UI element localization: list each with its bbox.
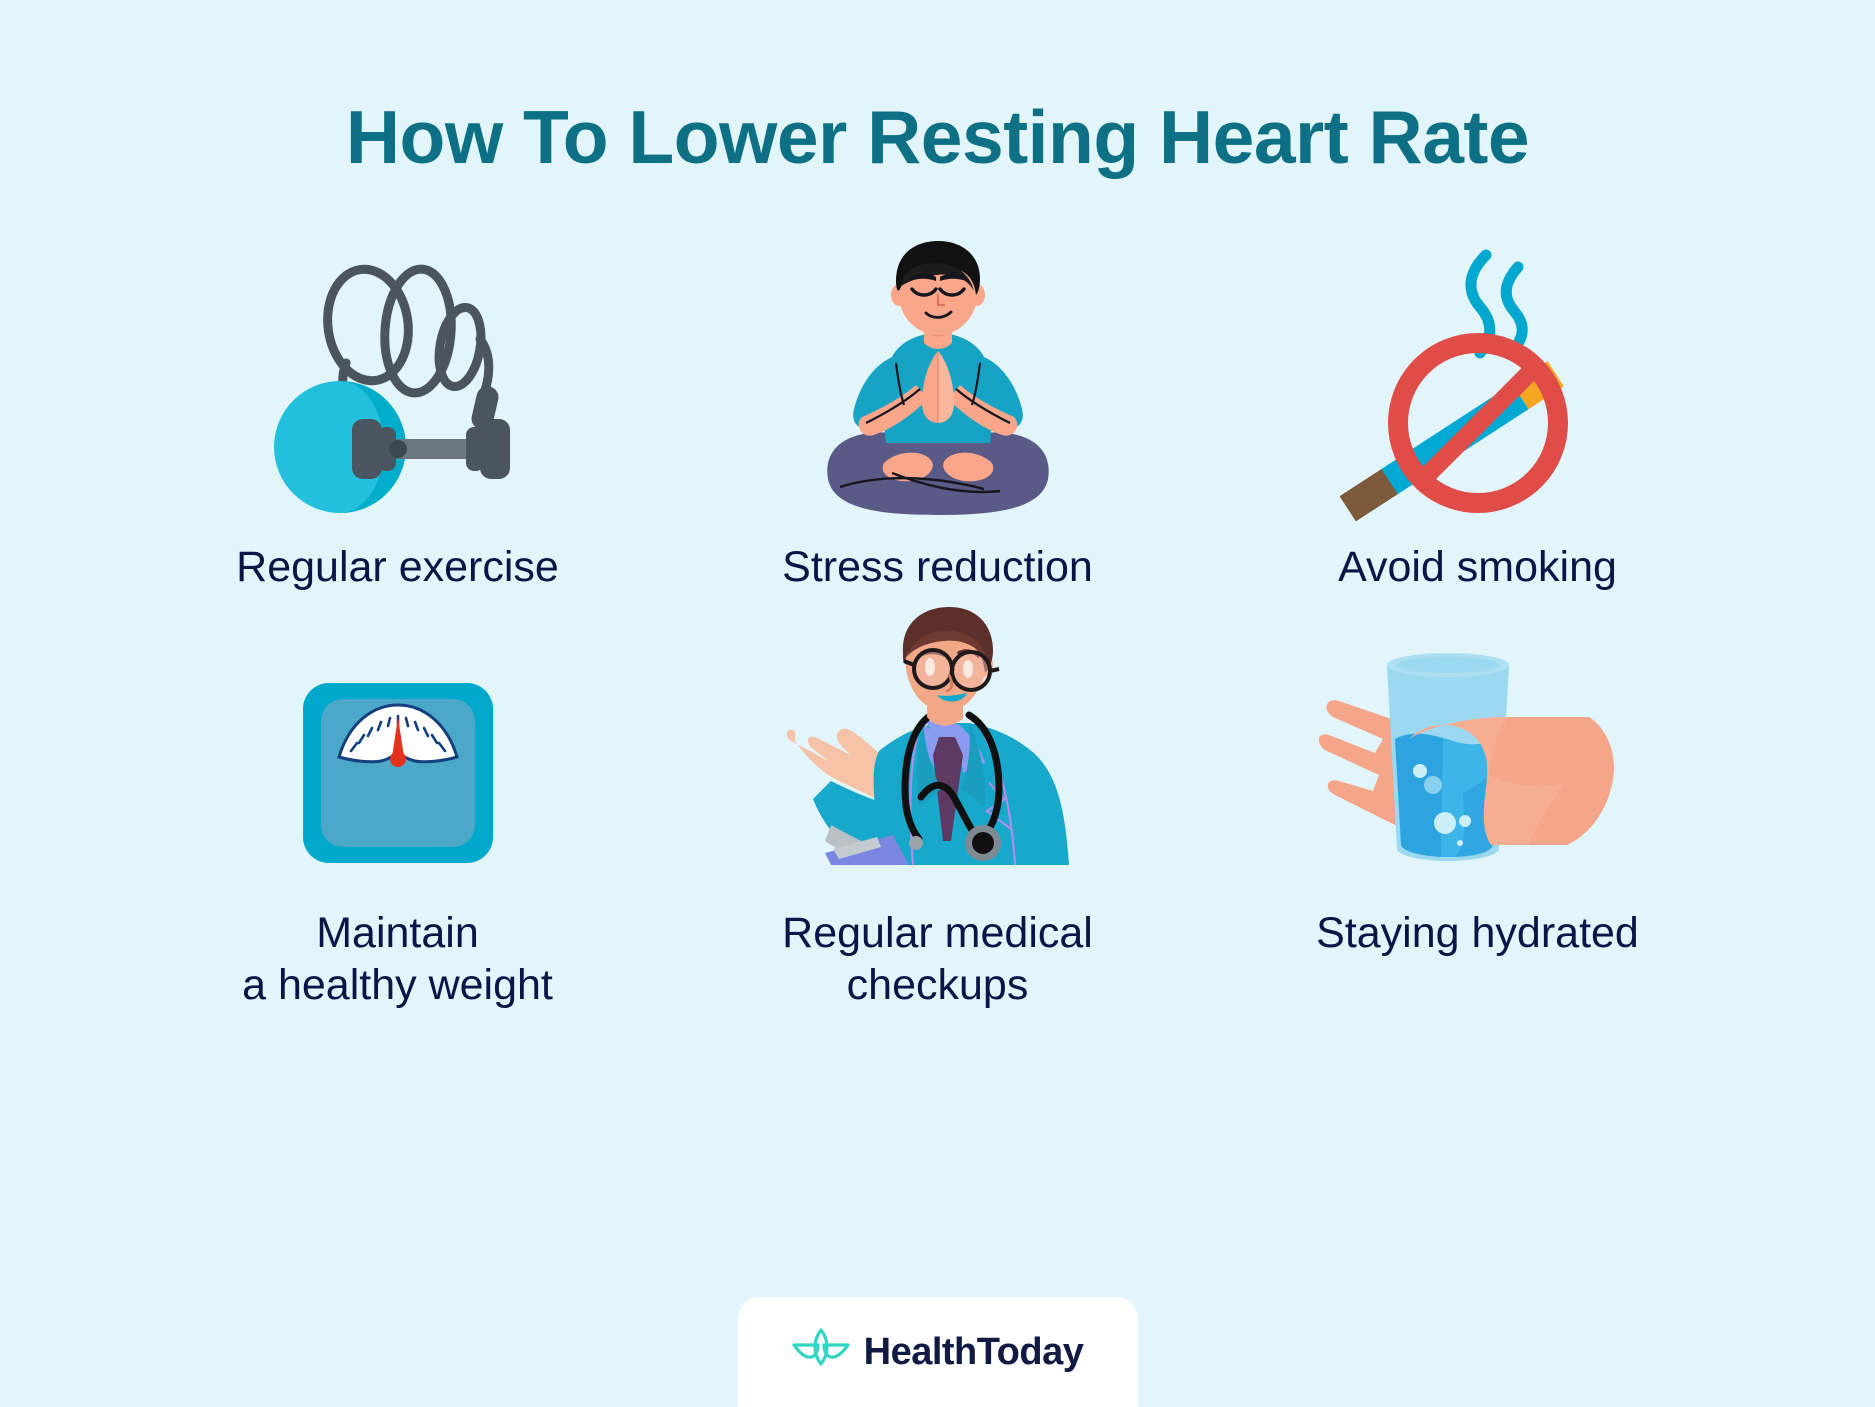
tips-grid: Regular exercise xyxy=(128,223,1748,1083)
glass-of-water-icon xyxy=(1313,643,1643,873)
exercise-equipment-icon xyxy=(233,223,563,523)
bathroom-scale-icon xyxy=(233,643,563,873)
tip-label: Regular exercise xyxy=(236,541,559,593)
tip-label: Stress reduction xyxy=(782,541,1093,593)
tip-label: Avoid smoking xyxy=(1338,541,1617,593)
doctor-icon xyxy=(773,643,1103,873)
tip-label: Staying hydrated xyxy=(1316,907,1639,959)
tip-card-stress-reduction[interactable]: Stress reduction xyxy=(668,223,1208,643)
tip-label: Maintain a healthy weight xyxy=(242,907,553,1012)
tip-card-staying-hydrated[interactable]: Staying hydrated xyxy=(1208,643,1748,1083)
tip-card-regular-medical-checkups[interactable]: Regular medical checkups xyxy=(668,643,1208,1083)
tip-label: Regular medical checkups xyxy=(782,907,1093,1012)
tip-card-avoid-smoking[interactable]: Avoid smoking xyxy=(1208,223,1748,643)
brand-name-first: Health xyxy=(864,1331,977,1373)
page-title: How To Lower Resting Heart Rate xyxy=(346,100,1529,175)
brand-name-second: Today xyxy=(977,1331,1084,1373)
tip-card-maintain-healthy-weight[interactable]: Maintain a healthy weight xyxy=(128,643,668,1083)
infographic-root: How To Lower Resting Heart Rate xyxy=(0,0,1875,1407)
no-smoking-icon xyxy=(1313,223,1643,523)
lotus-leaf-icon xyxy=(792,1327,850,1378)
meditating-person-icon xyxy=(773,223,1103,523)
brand-badge: HealthToday xyxy=(738,1297,1138,1407)
brand-name: HealthToday xyxy=(864,1331,1084,1374)
tip-card-regular-exercise[interactable]: Regular exercise xyxy=(128,223,668,643)
